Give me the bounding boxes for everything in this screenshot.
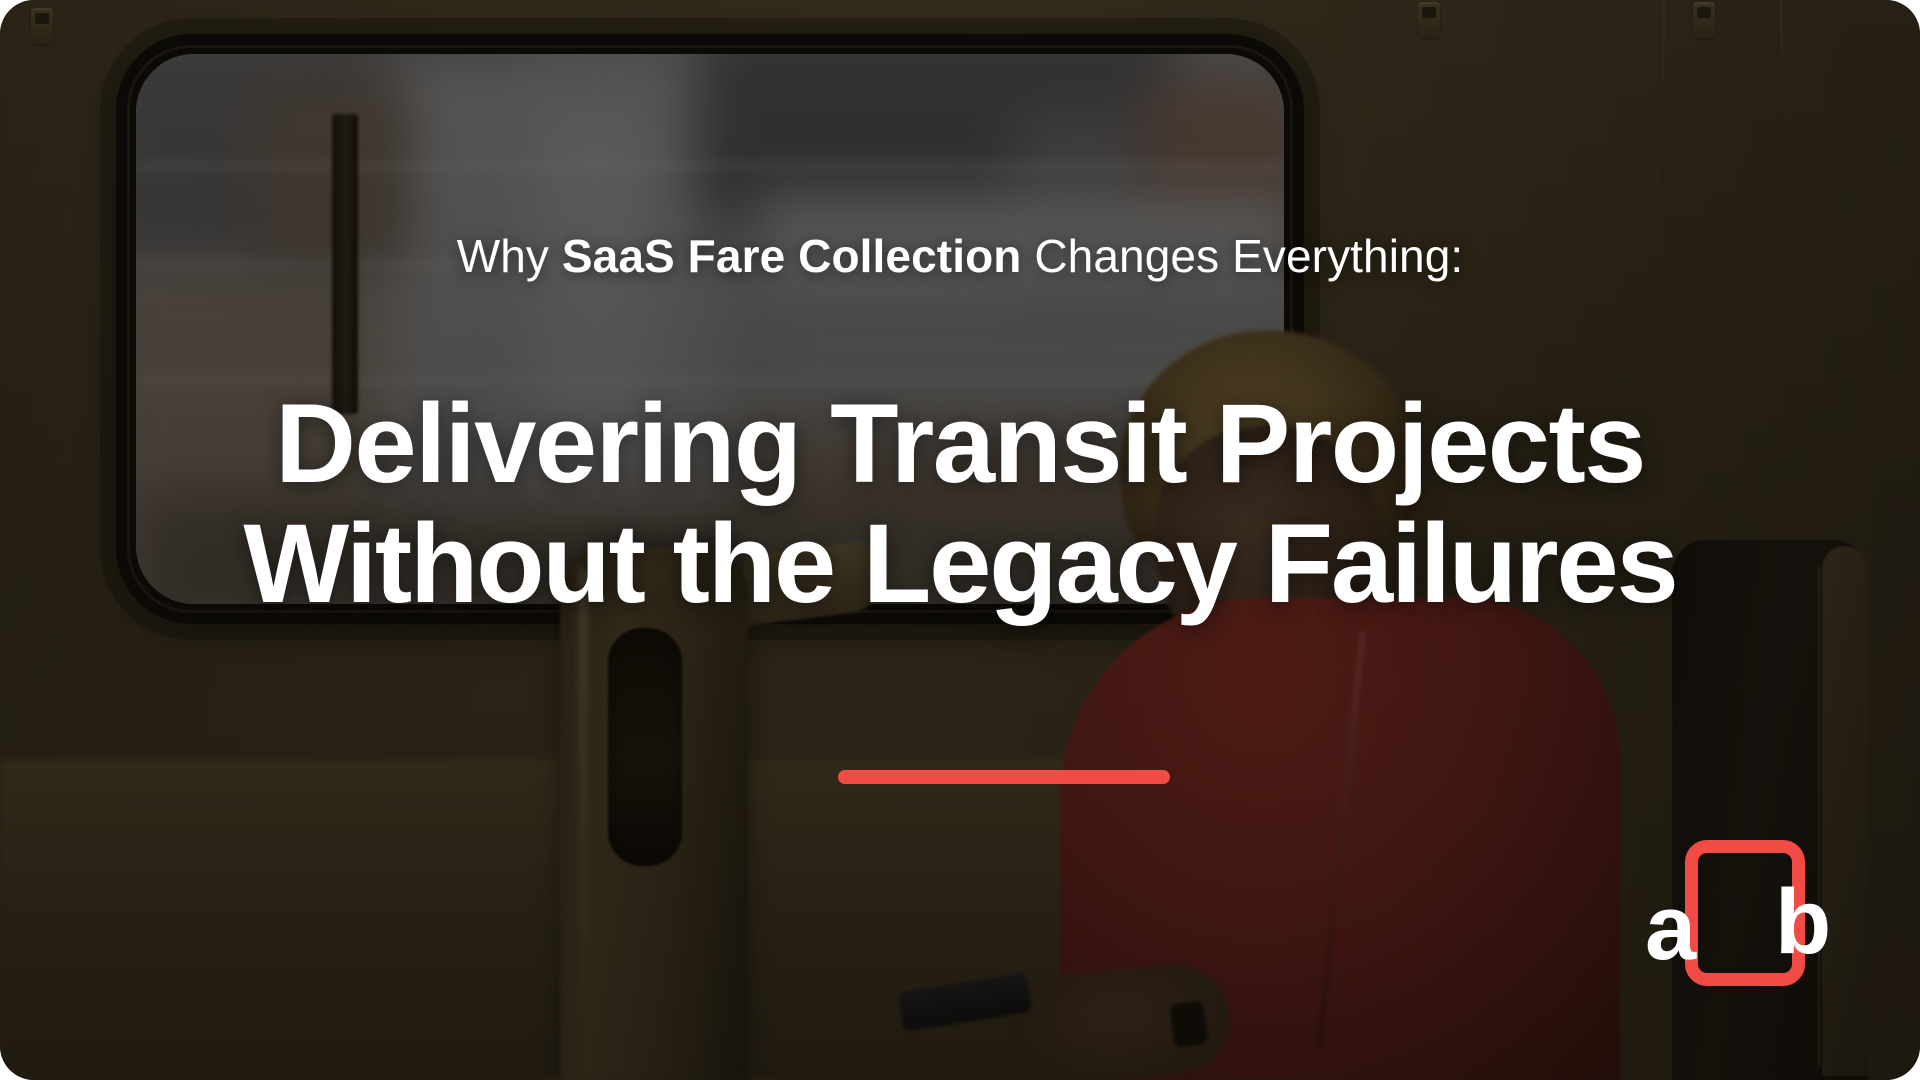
logo-letter-a: a [1645,882,1696,974]
headline-line-1: Delivering Transit Projects [275,381,1645,506]
eyebrow-text: Why SaaS Fare Collection Changes Everyth… [0,228,1920,286]
eyebrow-suffix: Changes Everything: [1021,230,1463,282]
hero-banner-card: Why SaaS Fare Collection Changes Everyth… [0,0,1920,1080]
accent-rule [838,770,1170,784]
headline-line-2: Without the Legacy Failures [0,504,1920,624]
ab-logo[interactable]: a b [1645,840,1837,990]
eyebrow-prefix: Why [457,230,562,282]
logo-letter-b: b [1775,876,1831,968]
page-title: Delivering Transit ProjectsWithout the L… [0,384,1920,624]
eyebrow-emphasis: SaaS Fare Collection [562,230,1022,282]
banner-content: Why SaaS Fare Collection Changes Everyth… [0,0,1920,1080]
